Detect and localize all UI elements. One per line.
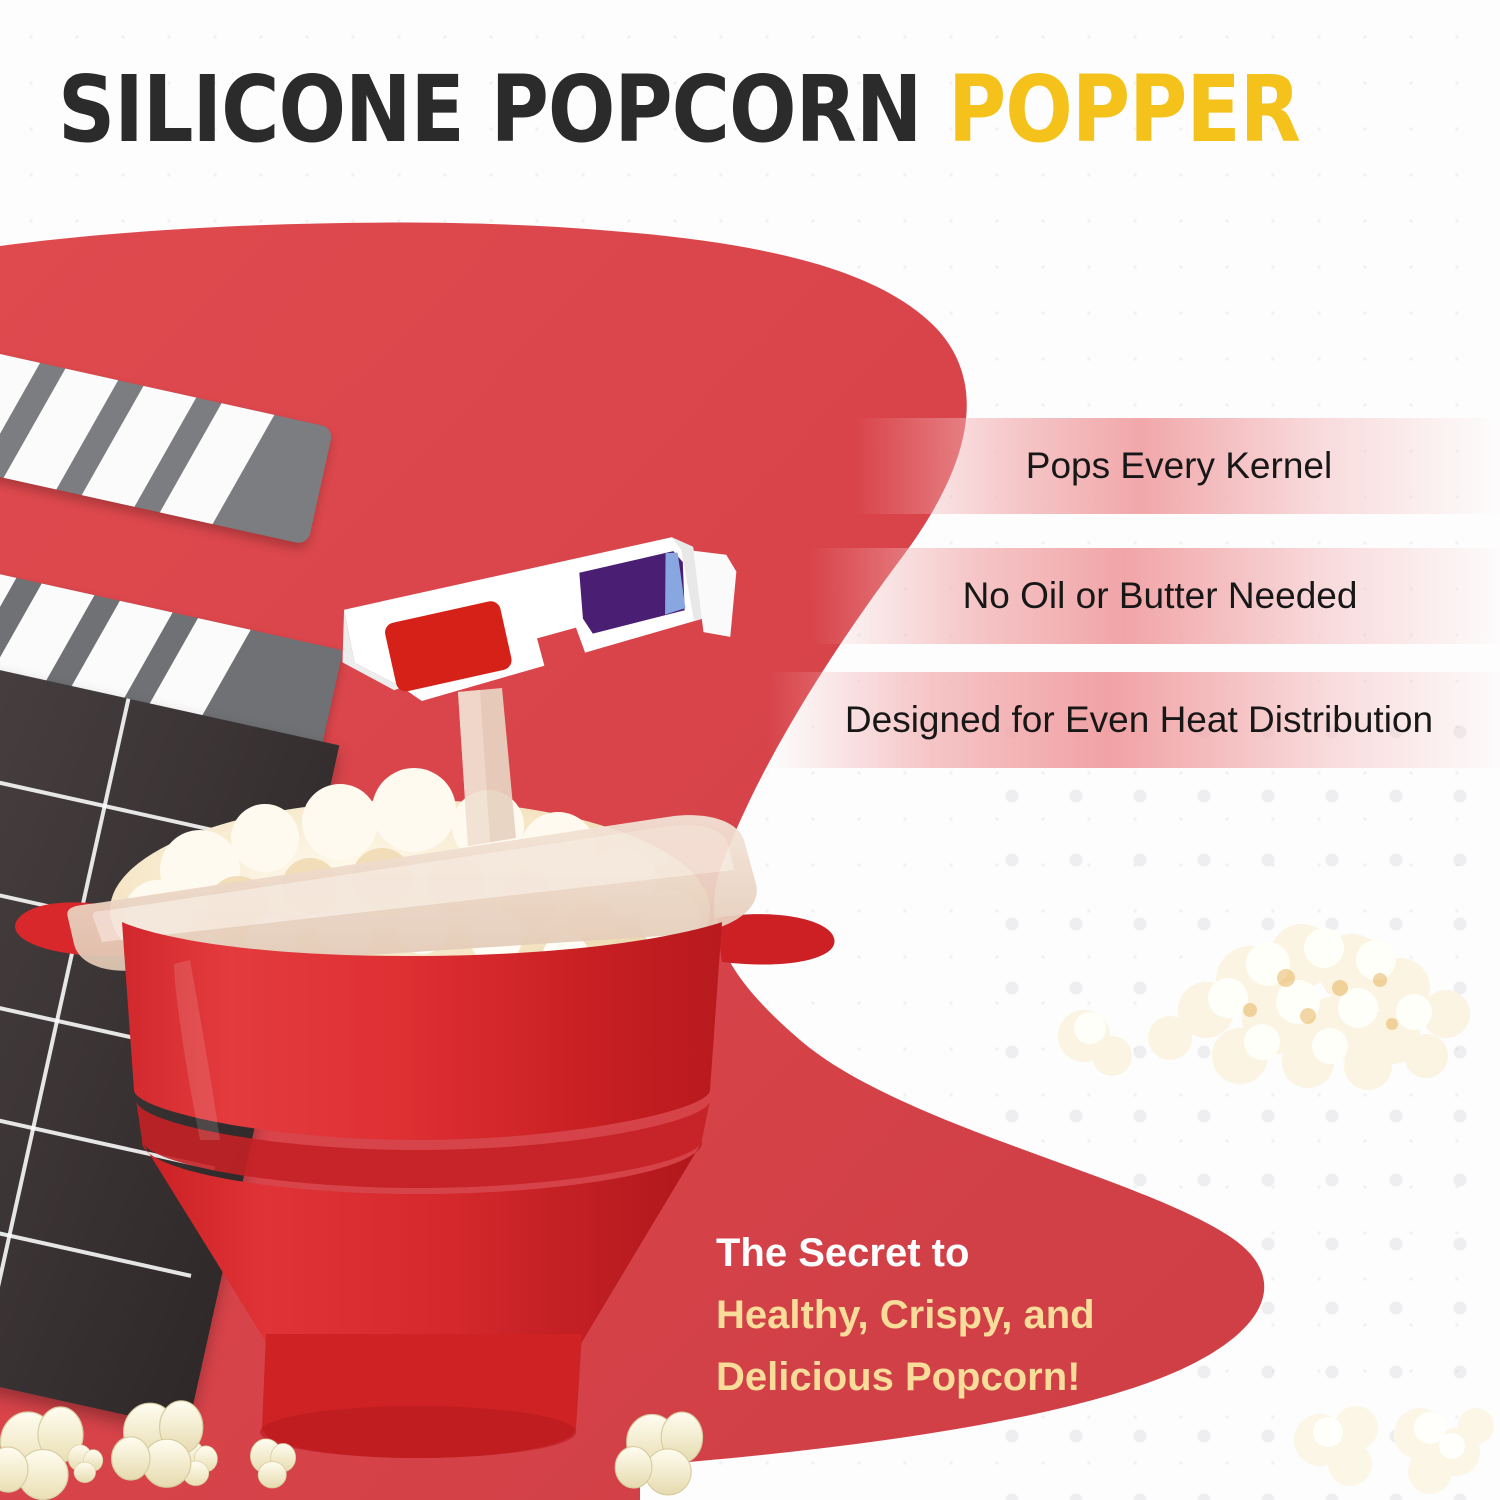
popcorn-cluster-bottom-right — [1280, 1380, 1500, 1500]
feature-bar-3: Designed for Even Heat Distribution — [768, 672, 1500, 768]
page-title: SILICONE POPCORN POPPER — [58, 64, 1300, 156]
title-part-primary: SILICONE POPCORN — [58, 56, 948, 163]
feature-bar-3-label: Designed for Even Heat Distribution — [768, 699, 1500, 741]
product-marketing-banner: SILICONE POPCORN POPPER — [0, 0, 1500, 1500]
popcorn-on-red-floor-lower — [60, 1380, 760, 1500]
feature-bar-2: No Oil or Butter Needed — [810, 548, 1500, 644]
clapper-stick-top — [0, 341, 334, 545]
bowl-handle-right — [716, 914, 834, 964]
popcorn-pile-right — [1040, 860, 1500, 1120]
title-part-accent: POPPER — [948, 56, 1300, 163]
tagline-line-2: Healthy, Crispy, and — [716, 1284, 1095, 1346]
tagline-line-3: Delicious Popcorn! — [716, 1346, 1095, 1408]
feature-bar-1-label: Pops Every Kernel — [855, 445, 1500, 487]
tagline-line-1: The Secret to — [716, 1222, 1095, 1284]
feature-bar-1: Pops Every Kernel — [855, 418, 1500, 514]
feature-bar-2-label: No Oil or Butter Needed — [810, 575, 1500, 617]
tagline-block: The Secret to Healthy, Crispy, and Delic… — [716, 1222, 1095, 1408]
